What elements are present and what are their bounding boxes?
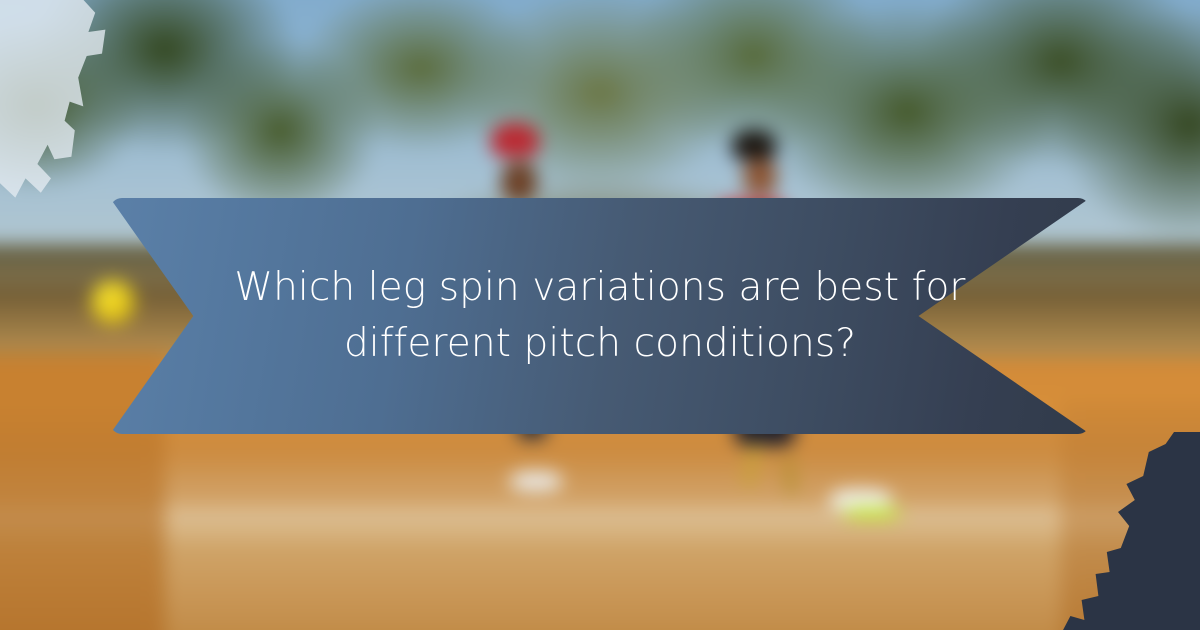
headline-line-1: Which leg spin variations are best for xyxy=(234,260,965,316)
quote-card: Which leg spin variations are best for d… xyxy=(0,0,1200,630)
headline-banner-content: Which leg spin variations are best for d… xyxy=(110,198,1090,434)
headline-line-2: different pitch conditions? xyxy=(344,316,856,372)
player-two-shoe-sole xyxy=(843,507,901,519)
player-two-hair xyxy=(732,130,776,160)
player-red-cap xyxy=(491,123,539,157)
player-two-face xyxy=(743,159,777,195)
player-one-shoe xyxy=(510,471,562,491)
player-one-face xyxy=(501,162,537,202)
background-pitch-crease xyxy=(0,507,1200,543)
